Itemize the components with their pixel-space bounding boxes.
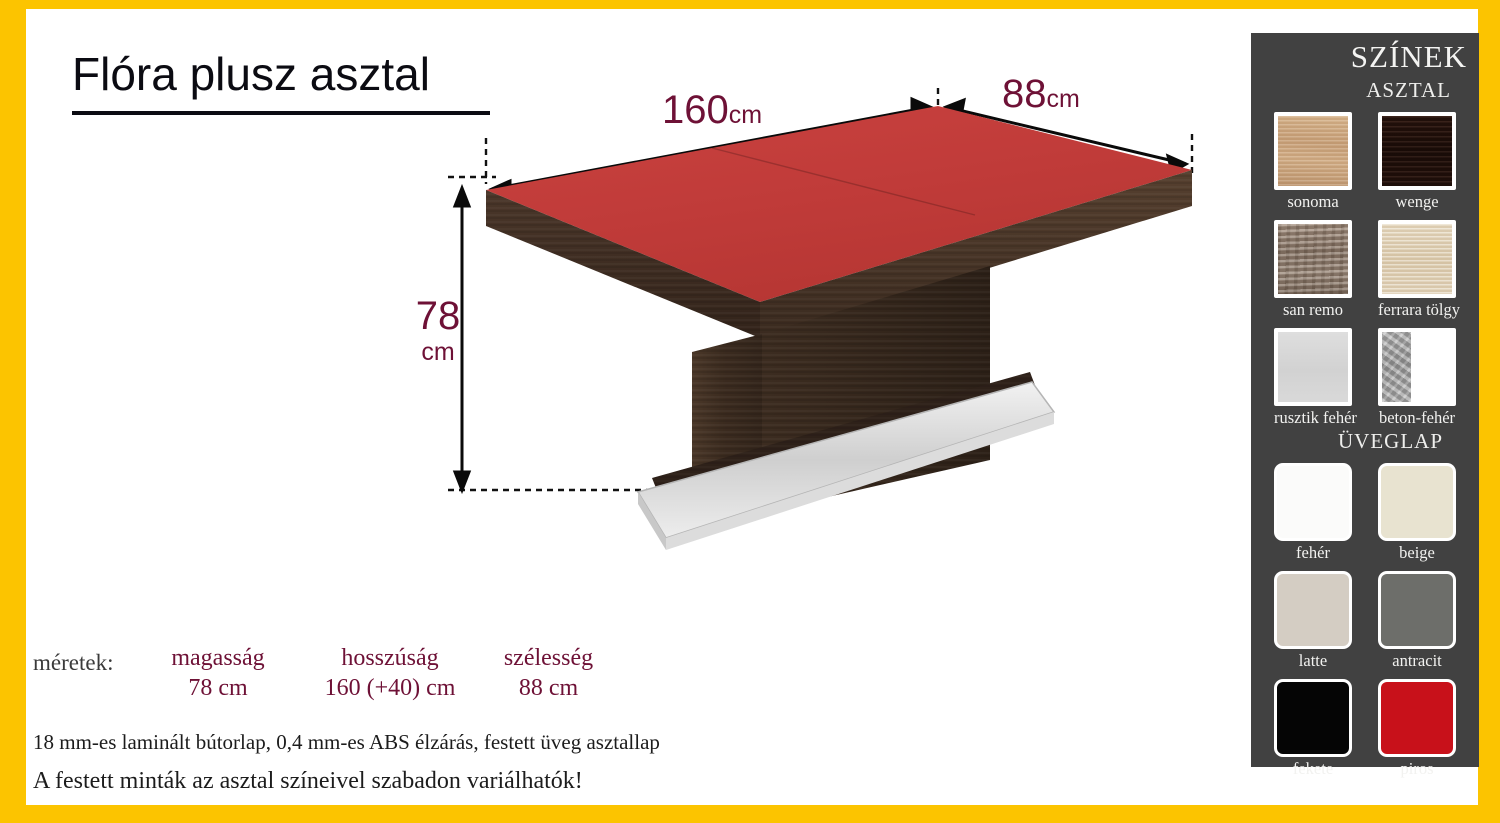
swatch-label: antracit — [1378, 651, 1456, 671]
page-title-underline — [72, 111, 490, 115]
swatch-piros[interactable]: piros — [1378, 679, 1456, 779]
swatch-color-san-remo — [1278, 224, 1348, 294]
swatch-wenge[interactable]: wenge — [1378, 112, 1456, 212]
frame-border-top — [0, 0, 1500, 9]
swatch-label: sonoma — [1274, 192, 1352, 212]
swatch-color-feher — [1277, 466, 1349, 538]
swatch-chip[interactable] — [1378, 328, 1456, 406]
colors-panel-title: SZÍNEK — [1351, 39, 1467, 75]
swatch-label: beige — [1378, 543, 1456, 563]
swatch-label: beton-fehér — [1378, 408, 1456, 428]
swatch-latte[interactable]: latte — [1274, 571, 1352, 671]
swatch-chip[interactable] — [1274, 679, 1352, 757]
swatch-sonoma[interactable]: sonoma — [1274, 112, 1352, 212]
measurement-width-value: 88 cm — [481, 675, 616, 702]
measurement-length-value: 160 (+40) cm — [305, 675, 475, 702]
measurement-length: hosszúság 160 (+40) cm — [305, 645, 475, 702]
swatch-chip[interactable] — [1378, 679, 1456, 757]
measurement-height-value: 78 cm — [153, 675, 283, 702]
swatch-chip[interactable] — [1274, 328, 1352, 406]
swatch-fekete[interactable]: fekete — [1274, 679, 1352, 779]
swatch-label: ferrara tölgy — [1378, 300, 1456, 320]
swatch-color-ferrara-tolgy — [1382, 224, 1452, 294]
measurement-height: magasság 78 cm — [153, 645, 283, 702]
swatch-chip[interactable] — [1274, 112, 1352, 190]
measurement-height-head: magasság — [153, 645, 283, 672]
description-materials: 18 mm-es laminált bútorlap, 0,4 mm-es AB… — [33, 730, 660, 755]
dimension-height-value: 78 — [406, 296, 470, 336]
beton-white-half — [1411, 332, 1452, 402]
swatch-chip[interactable] — [1274, 571, 1352, 649]
swatch-chip[interactable] — [1378, 463, 1456, 541]
page-title: Flóra plusz asztal — [72, 47, 430, 101]
colors-panel: SZÍNEK ASZTAL sonoma wenge san remo — [1251, 33, 1479, 767]
swatch-row: rusztik fehér beton-fehér — [1251, 328, 1479, 428]
swatch-san-remo[interactable]: san remo — [1274, 220, 1352, 320]
frame-border-bottom — [0, 805, 1500, 823]
dimension-height-unit: cm — [406, 340, 470, 365]
swatch-chip[interactable] — [1274, 463, 1352, 541]
swatch-color-beige — [1381, 466, 1453, 538]
table-illustration — [430, 60, 1220, 580]
swatch-antracit[interactable]: antracit — [1378, 571, 1456, 671]
swatch-label: wenge — [1378, 192, 1456, 212]
measurement-width-head: szélesség — [481, 645, 616, 672]
swatch-row: fekete piros — [1251, 679, 1479, 779]
swatch-color-beton-feher — [1382, 332, 1452, 402]
measurement-length-head: hosszúság — [305, 645, 475, 672]
swatch-grid-uveglap: fehér beige latte antracit — [1251, 463, 1479, 787]
dimension-width-unit: cm — [1047, 85, 1080, 113]
swatch-label: piros — [1378, 759, 1456, 779]
swatch-color-latte — [1277, 574, 1349, 646]
dimension-length-value: 160 — [662, 88, 729, 132]
swatch-grid-asztal: sonoma wenge san remo ferrara tölgy — [1251, 112, 1479, 436]
swatch-color-rusztik-feher — [1278, 332, 1348, 402]
swatch-row: fehér beige — [1251, 463, 1479, 563]
swatch-row: latte antracit — [1251, 571, 1479, 671]
beton-concrete-half — [1382, 332, 1411, 402]
swatch-chip[interactable] — [1274, 220, 1352, 298]
swatch-chip[interactable] — [1378, 112, 1456, 190]
measurements-label: méretek: — [33, 650, 113, 676]
swatch-rusztik-feher[interactable]: rusztik fehér — [1274, 328, 1352, 428]
swatch-color-antracit — [1381, 574, 1453, 646]
colors-section-heading-asztal: ASZTAL — [1251, 78, 1479, 103]
swatch-color-fekete — [1277, 682, 1349, 754]
dimension-length-unit: cm — [729, 101, 762, 129]
swatch-label: rusztik fehér — [1274, 408, 1352, 428]
swatch-feher[interactable]: fehér — [1274, 463, 1352, 563]
swatch-beige[interactable]: beige — [1378, 463, 1456, 563]
measurement-width: szélesség 88 cm — [481, 645, 616, 702]
dimension-label-height: 78 cm — [406, 296, 470, 365]
description-customization: A festett minták az asztal színeivel sza… — [33, 768, 583, 795]
swatch-label: fehér — [1274, 543, 1352, 563]
swatch-label: fekete — [1274, 759, 1352, 779]
swatch-color-sonoma — [1278, 116, 1348, 186]
colors-section-heading-uveglap: ÜVEGLAP — [1251, 429, 1479, 454]
swatch-row: san remo ferrara tölgy — [1251, 220, 1479, 320]
frame-border-right — [1478, 0, 1500, 823]
swatch-label: san remo — [1274, 300, 1352, 320]
swatch-color-piros — [1381, 682, 1453, 754]
swatch-color-wenge — [1382, 116, 1452, 186]
product-spec-sheet: Flóra plusz asztal — [0, 0, 1500, 823]
swatch-ferrara-tolgy[interactable]: ferrara tölgy — [1378, 220, 1456, 320]
swatch-beton-feher[interactable]: beton-fehér — [1378, 328, 1456, 428]
dimension-label-width: 88cm — [1002, 74, 1080, 114]
swatch-row: sonoma wenge — [1251, 112, 1479, 212]
swatch-chip[interactable] — [1378, 571, 1456, 649]
dimension-label-length: 160cm — [662, 90, 762, 130]
frame-border-left — [0, 0, 26, 823]
swatch-label: latte — [1274, 651, 1352, 671]
dimension-width-value: 88 — [1002, 72, 1047, 116]
swatch-chip[interactable] — [1378, 220, 1456, 298]
